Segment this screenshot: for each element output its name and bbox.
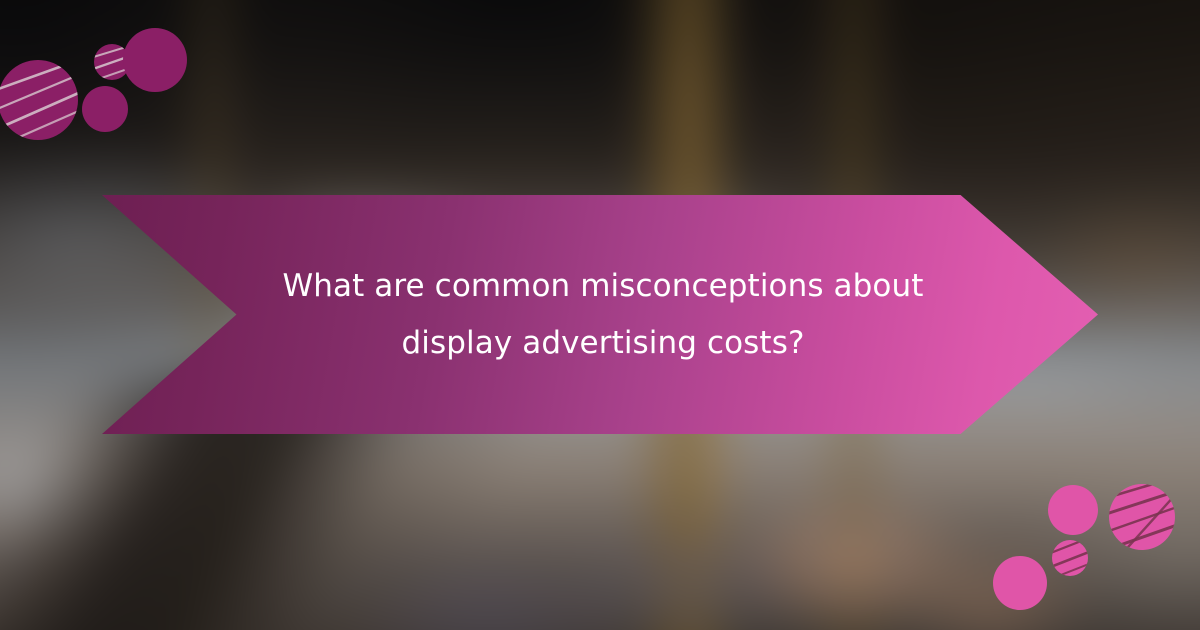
page-title: What are common misconceptions about dis…	[223, 258, 983, 372]
banner-text-container: What are common misconceptions about dis…	[223, 258, 983, 372]
chevron-banner: What are common misconceptions about dis…	[102, 195, 1098, 434]
